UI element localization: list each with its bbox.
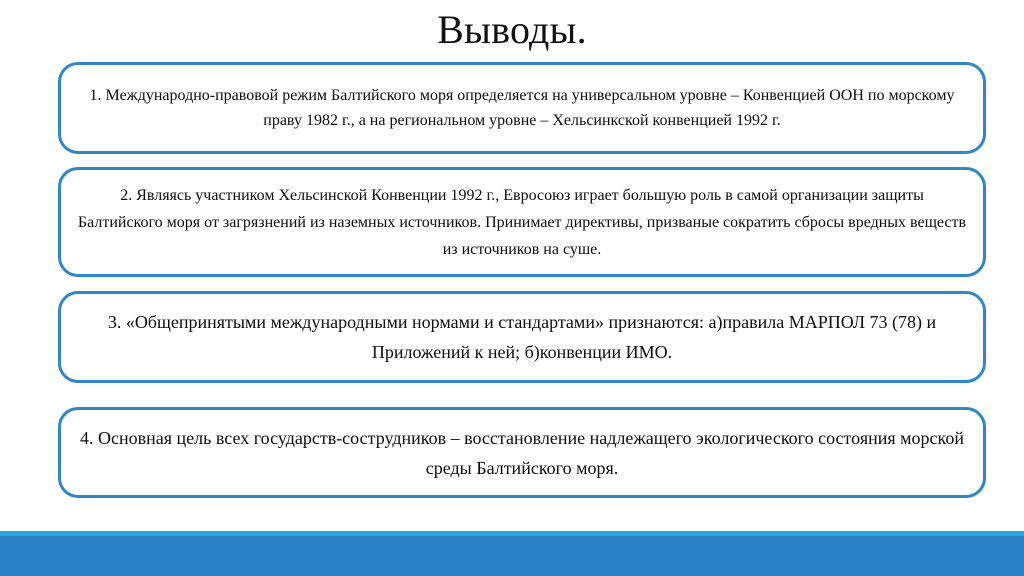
- conclusion-box-4: 4. Основная цель всех государств-соструд…: [58, 407, 986, 498]
- conclusion-text-4: 4. Основная цель всех государств-соструд…: [77, 423, 967, 483]
- conclusion-box-3: 3. «Общепринятыми международными нормами…: [58, 291, 986, 383]
- conclusion-box-2: 2. Являясь участником Хельсинской Конвен…: [58, 167, 986, 277]
- page-title: Выводы.: [0, 6, 1024, 54]
- conclusion-text-3: 3. «Общепринятыми международными нормами…: [77, 307, 967, 367]
- conclusion-text-2: 2. Являясь участником Хельсинской Конвен…: [77, 182, 967, 263]
- conclusion-box-1: 1. Международно-правовой режим Балтийско…: [58, 62, 986, 154]
- slide-canvas: Выводы. 1. Международно-правовой режим Б…: [0, 0, 1024, 576]
- bottom-band: [0, 536, 1024, 576]
- conclusion-text-1: 1. Международно-правовой режим Балтийско…: [77, 83, 967, 133]
